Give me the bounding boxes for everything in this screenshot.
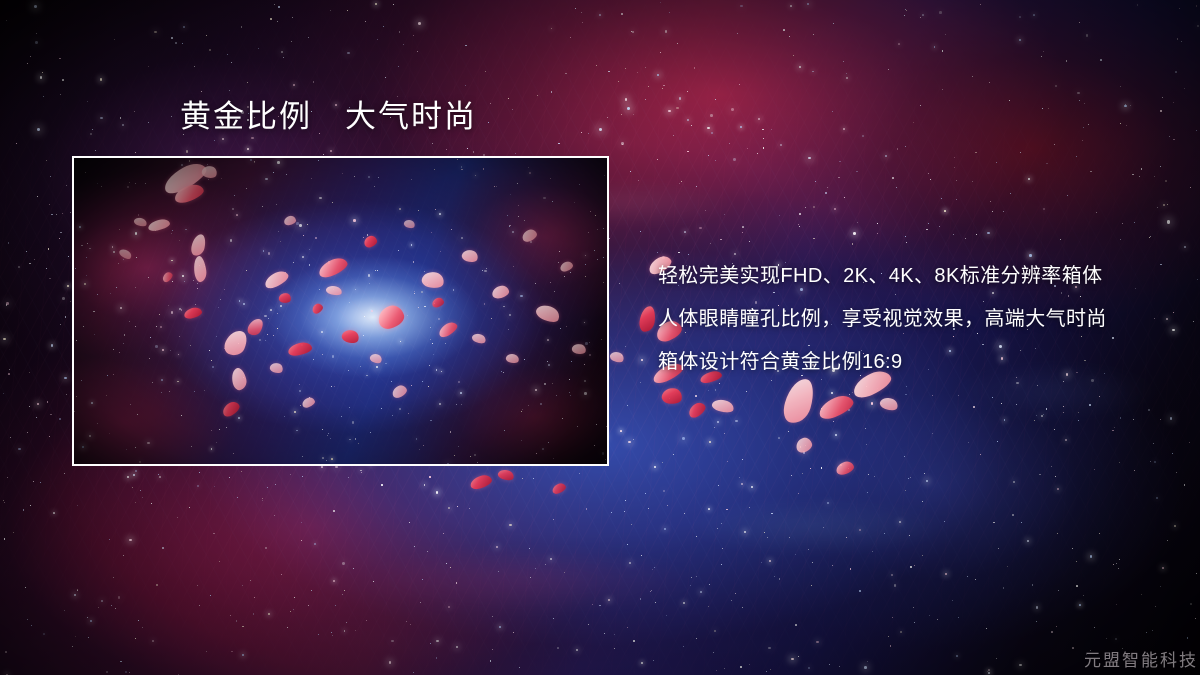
page-title: 黄金比例 大气时尚	[180, 101, 477, 132]
photo-vignette	[74, 158, 607, 464]
body-line-1: 轻松完美实现FHD、2K、4K、8K标准分辨率箱体	[658, 255, 1107, 298]
rose-petal	[878, 395, 899, 412]
framed-photo	[72, 156, 609, 466]
rose-petal	[794, 436, 814, 454]
rose-petal	[835, 460, 856, 476]
rose-petal	[816, 392, 856, 422]
rose-petal	[686, 400, 708, 420]
rose-petal	[469, 473, 493, 491]
body-copy: 轻松完美实现FHD、2K、4K、8K标准分辨率箱体 人体眼睛瞳孔比例，享受视觉效…	[658, 255, 1107, 384]
rose-petal	[711, 397, 735, 415]
watermark: 元盟智能科技	[1084, 646, 1198, 671]
presentation-slide: 黄金比例 大气时尚 轻松完美实现FHD、2K、4K、8K标准分辨率箱体 人体眼睛…	[0, 0, 1200, 675]
rose-petal	[609, 350, 626, 365]
photo-content	[74, 158, 607, 464]
body-line-3: 箱体设计符合黄金比例16:9	[658, 341, 1107, 384]
rose-petal	[497, 468, 515, 482]
rose-petal	[638, 305, 656, 333]
body-line-2: 人体眼睛瞳孔比例，享受视觉效果，高端大气时尚	[658, 298, 1107, 341]
rose-petal	[551, 482, 567, 496]
rose-petal	[661, 386, 683, 405]
